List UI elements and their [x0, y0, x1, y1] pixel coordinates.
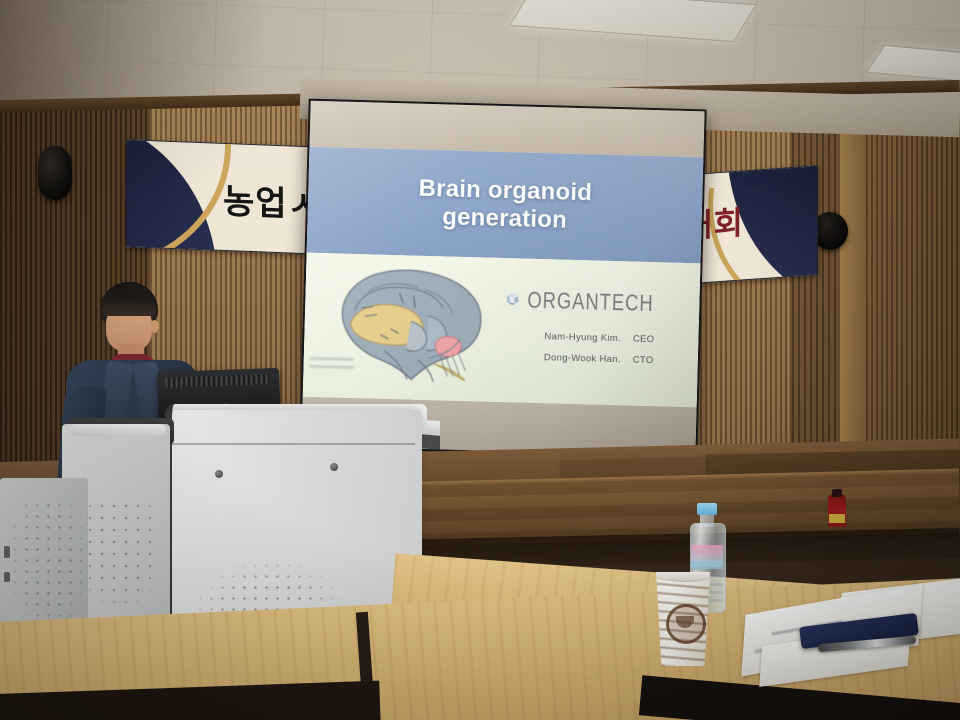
cabinet-lock-icon — [4, 546, 10, 558]
slide-corner-note — [309, 357, 353, 374]
lectern-lip — [70, 424, 166, 436]
projected-slide: Brain organoid generation — [303, 147, 704, 408]
podium-panel-seam — [172, 443, 415, 445]
cup-logo-stamp — [666, 604, 706, 644]
extinguisher-label — [829, 514, 845, 523]
fire-extinguisher-icon — [828, 495, 846, 527]
bottle-cap — [697, 503, 717, 515]
organtech-logo: ORGANTECH — [505, 276, 686, 327]
bottle-label-stripe — [691, 561, 723, 569]
screen-surface: Brain organoid generation — [301, 101, 704, 457]
credit-row: Dong-Wook Han. CTO — [544, 352, 705, 368]
presenter-hair-front — [102, 296, 156, 316]
polyhedron-logo-icon — [505, 279, 520, 319]
monitor-vent — [165, 374, 269, 388]
credit-role: CTO — [633, 355, 654, 367]
credit-name: Dong-Wook Han. — [544, 352, 621, 365]
credit-name: Nam-Hyung Kim. — [544, 331, 621, 344]
slide-title: Brain organoid generation — [418, 174, 593, 235]
extinguisher-nozzle — [832, 489, 842, 497]
slide-header-band: Brain organoid generation — [307, 147, 704, 264]
cabinet-lock-icon — [4, 572, 10, 582]
banner-left: 농업ㅅ — [126, 139, 324, 255]
paper-coffee-cup — [656, 572, 710, 666]
organtech-logo-text: ORGANTECH — [527, 286, 654, 316]
cabinet-perforation-pattern — [10, 500, 82, 630]
podium-screw — [215, 470, 223, 478]
podium-screw — [330, 463, 338, 471]
slide-credits: Nam-Hyung Kim. CEO Dong-Wook Han. CTO — [543, 331, 704, 378]
credit-row: Nam-Hyung Kim. CEO — [544, 331, 704, 347]
wall-speaker-icon — [38, 146, 72, 200]
presentation-photo-scene: 농업ㅅ 대회 Brain organoid generation — [0, 0, 960, 720]
presenter-ear — [150, 320, 159, 333]
slide-body: ORGANTECH Nam-Hyung Kim. CEO Dong-Wook H… — [303, 253, 701, 408]
credit-role: CEO — [633, 334, 655, 346]
slide-title-line2: generation — [418, 203, 592, 236]
